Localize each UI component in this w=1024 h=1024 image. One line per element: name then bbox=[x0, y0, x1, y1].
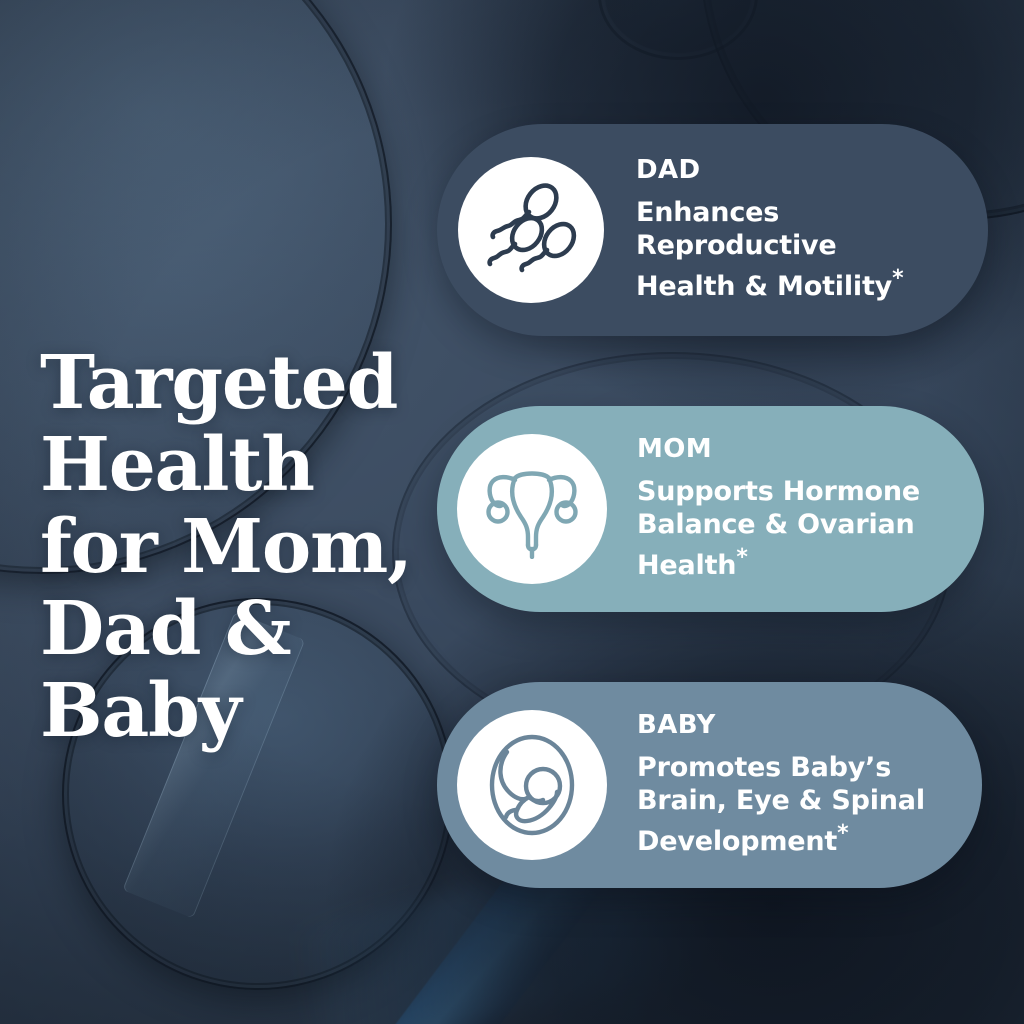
footnote-marker-baby: * bbox=[837, 821, 848, 846]
icon-circle-dad bbox=[458, 157, 604, 303]
pill-description-dad: Enhances Reproductive Health & Motility* bbox=[636, 196, 968, 303]
desc-line-2: Balance & Ovarian bbox=[637, 508, 964, 541]
desc-line-3: Health* bbox=[637, 541, 964, 582]
icon-circle-baby bbox=[457, 710, 607, 860]
headline-line-3: for Mom, bbox=[40, 506, 430, 588]
desc-line-2: Reproductive bbox=[636, 229, 968, 262]
headline-line-2: Health bbox=[40, 424, 430, 506]
pill-description-mom: Supports Hormone Balance & Ovarian Healt… bbox=[637, 475, 964, 582]
desc-line-3-text: Health & Motility bbox=[636, 271, 892, 302]
desc-line-1: Enhances bbox=[636, 196, 968, 229]
promo-graphic: Targeted Health for Mom, Dad & Baby bbox=[0, 0, 1024, 1024]
pill-text-mom: MOM Supports Hormone Balance & Ovarian H… bbox=[607, 436, 984, 582]
desc-line-1: Supports Hormone bbox=[637, 475, 964, 508]
pill-text-baby: BABY Promotes Baby’s Brain, Eye & Spinal… bbox=[607, 712, 982, 858]
headline-line-5: Baby bbox=[40, 670, 430, 752]
desc-line-3-text: Health bbox=[637, 550, 736, 581]
desc-line-3: Health & Motility* bbox=[636, 262, 968, 303]
icon-circle-mom bbox=[457, 434, 607, 584]
headline-line-4: Dad & bbox=[40, 588, 430, 670]
pill-text-dad: DAD Enhances Reproductive Health & Motil… bbox=[604, 157, 988, 303]
benefit-pill-list: DAD Enhances Reproductive Health & Motil… bbox=[437, 124, 989, 888]
sperm-icon bbox=[479, 178, 583, 282]
pill-title-baby: BABY bbox=[637, 712, 962, 738]
desc-line-3: Development* bbox=[637, 817, 962, 858]
pill-description-baby: Promotes Baby’s Brain, Eye & Spinal Deve… bbox=[637, 751, 962, 858]
desc-line-1: Promotes Baby’s bbox=[637, 751, 962, 784]
uterus-icon bbox=[479, 459, 585, 559]
benefit-pill-dad: DAD Enhances Reproductive Health & Motil… bbox=[437, 124, 988, 336]
desc-line-2: Brain, Eye & Spinal bbox=[637, 784, 962, 817]
desc-line-3-text: Development bbox=[637, 826, 837, 857]
pill-title-dad: DAD bbox=[636, 157, 968, 183]
fetus-in-womb-icon bbox=[477, 730, 587, 840]
headline-line-1: Targeted bbox=[40, 342, 430, 424]
benefit-pill-baby: BABY Promotes Baby’s Brain, Eye & Spinal… bbox=[437, 682, 982, 888]
footnote-marker-dad: * bbox=[892, 266, 903, 291]
footnote-marker-mom: * bbox=[736, 545, 747, 570]
page-title: Targeted Health for Mom, Dad & Baby bbox=[40, 342, 430, 752]
benefit-pill-mom: MOM Supports Hormone Balance & Ovarian H… bbox=[437, 406, 984, 612]
pill-title-mom: MOM bbox=[637, 436, 964, 462]
